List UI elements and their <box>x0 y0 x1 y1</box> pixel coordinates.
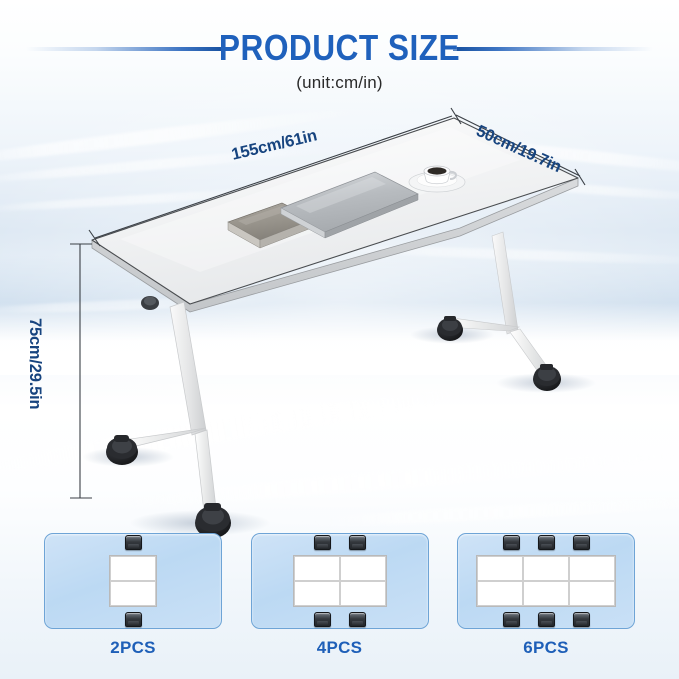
desk-icon <box>477 556 523 581</box>
desk-icon <box>340 581 386 606</box>
chair-icon <box>503 535 520 550</box>
header: PRODUCT SIZE (unit:cm/in) <box>0 18 679 90</box>
desk-icon <box>523 556 569 581</box>
chair-row-top <box>494 535 599 550</box>
config-diagram <box>44 533 222 629</box>
desk-icon <box>294 556 340 581</box>
desk-group <box>293 555 387 607</box>
chair-icon <box>503 612 520 627</box>
config-diagram <box>457 533 635 629</box>
chair-row-top <box>305 535 375 550</box>
page-title: PRODUCT SIZE <box>41 30 639 66</box>
config-panel-6pcs[interactable]: 6PCS <box>457 533 635 663</box>
chair-row-top <box>116 535 151 550</box>
config-panel-2pcs[interactable]: 2PCS <box>44 533 222 663</box>
desk-icon <box>477 581 523 606</box>
desk-icon <box>523 581 569 606</box>
page-subtitle: (unit:cm/in) <box>0 73 679 93</box>
chair-icon <box>538 612 555 627</box>
chair-icon <box>125 612 142 627</box>
desk-icon <box>569 556 615 581</box>
config-panel-4pcs[interactable]: 4PCS <box>251 533 429 663</box>
chair-icon <box>573 535 590 550</box>
chair-icon <box>538 535 555 550</box>
desk-icon <box>340 556 386 581</box>
chair-icon <box>349 612 366 627</box>
chair-row-bottom <box>494 612 599 627</box>
configuration-panels: 2PCS4PCS6PCS <box>0 533 679 663</box>
desk-group <box>109 555 157 607</box>
config-diagram <box>251 533 429 629</box>
dimension-label-height: 75cm/29.5in <box>25 318 44 409</box>
desk-icon <box>294 581 340 606</box>
chair-row-bottom <box>305 612 375 627</box>
desk-group <box>476 555 616 607</box>
desk-icon <box>569 581 615 606</box>
config-panel-label: 4PCS <box>317 638 363 658</box>
chair-row-bottom <box>116 612 151 627</box>
desk-icon <box>110 581 156 606</box>
desk-icon <box>110 556 156 581</box>
chair-icon <box>125 535 142 550</box>
chair-icon <box>349 535 366 550</box>
chair-icon <box>314 612 331 627</box>
product-size-infographic: PRODUCT SIZE (unit:cm/in) <box>0 0 679 679</box>
chair-icon <box>573 612 590 627</box>
config-panel-label: 6PCS <box>523 638 569 658</box>
config-panel-label: 2PCS <box>110 638 156 658</box>
chair-icon <box>314 535 331 550</box>
